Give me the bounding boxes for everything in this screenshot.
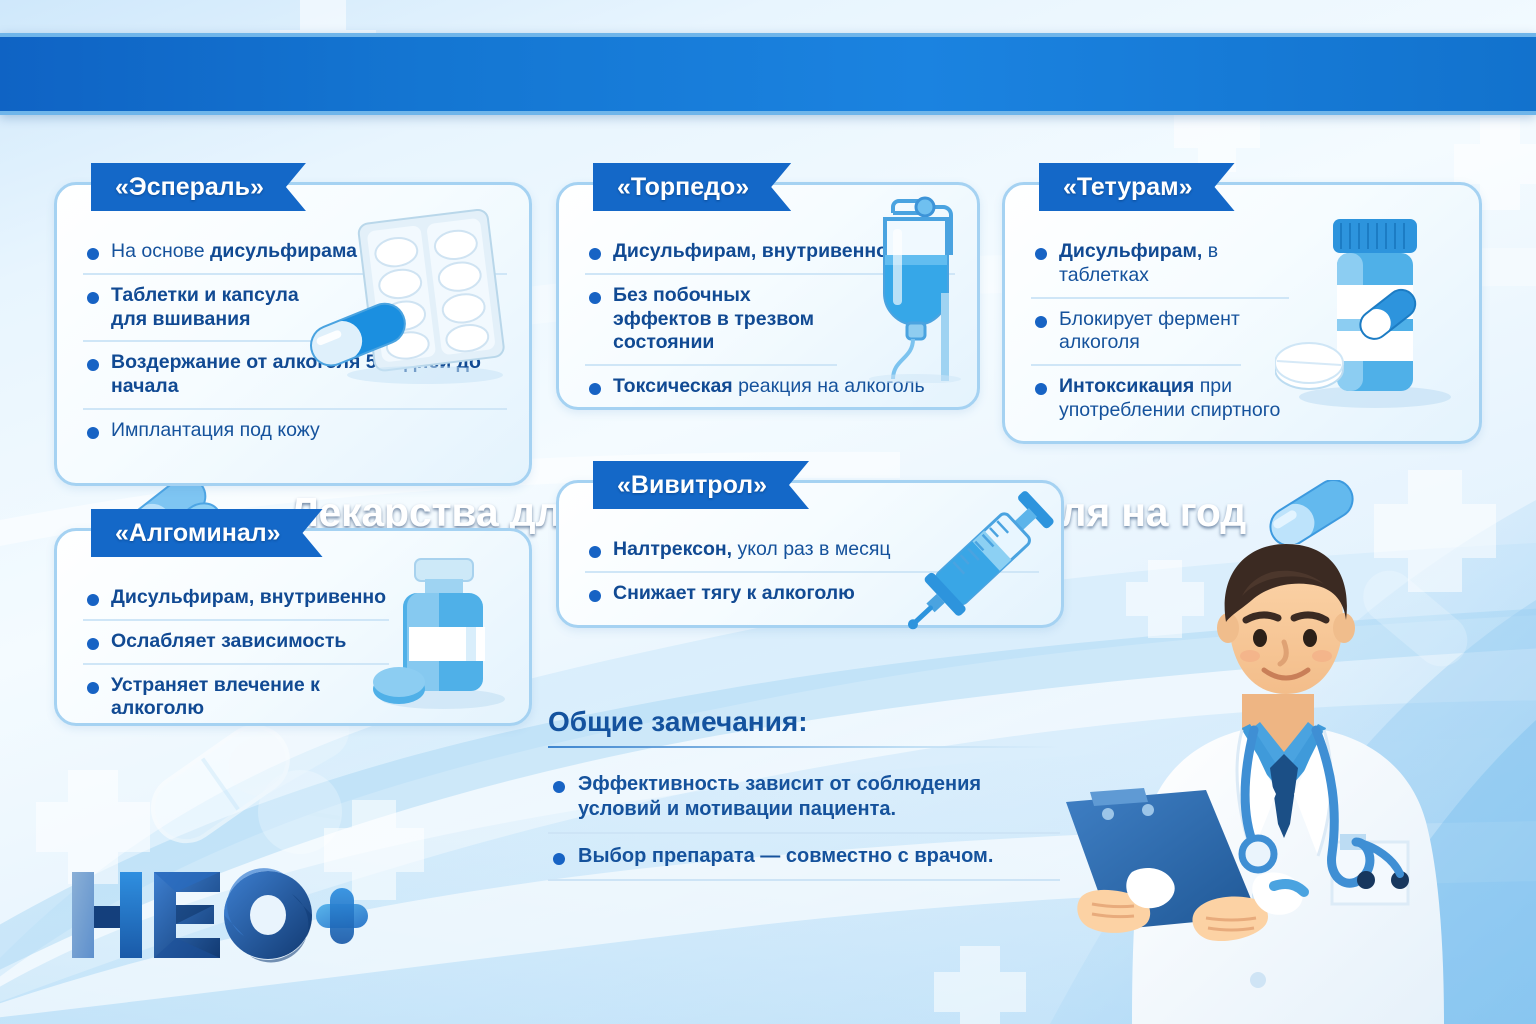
bullet-text-strong: Интоксикация	[1059, 375, 1194, 397]
list-item: Дисульфирам, внутривенно	[83, 577, 389, 621]
torpedo-bullet-list: Дисульфирам, внутривенно Без побочных эф…	[559, 231, 977, 408]
bullet-text: Таблетки и капсула для вшивания	[111, 284, 299, 330]
list-item: Интоксикация при употреблении спиртного	[1031, 366, 1289, 432]
bullet-text-post: укол раз в месяц	[732, 538, 890, 560]
list-item: Ослабляет зависимость	[83, 621, 389, 665]
bullet-text: Без побочных эффектов в трезвом состояни…	[613, 284, 814, 354]
header-band	[0, 33, 1536, 115]
bullet-text: Дисульфирам, внутривенно	[613, 240, 888, 262]
list-item: Воздержание от алкоголя 5~7 дней до нача…	[83, 342, 507, 410]
bullet-text: Блокирует фермент алкоголя	[1059, 308, 1240, 354]
logo-letter-e	[154, 872, 220, 958]
card-esperal[interactable]: «Эспераль»	[54, 182, 532, 486]
list-item: Снижает тягу к алкоголю	[585, 573, 1039, 615]
list-item: На основе дисульфирама	[83, 231, 507, 275]
note-item: Выбор препарата — совместно с врачом.	[548, 834, 1060, 881]
algominal-bullet-list: Дисульфирам, внутривенно Ослабляет завис…	[57, 577, 529, 730]
list-item: Дисульфирам, в таблетках	[1031, 231, 1289, 299]
vivitrol-bullet-list: Налтрексон, укол раз в месяц Снижает тяг…	[559, 529, 1061, 615]
card-title-vivitrol: «Вивитрол»	[593, 461, 809, 509]
bullet-text-pre: На основе	[111, 240, 210, 262]
bullet-text-strong: Дисульфирам,	[1059, 240, 1202, 262]
logo-letter-n	[72, 872, 142, 958]
note-item: Эффективность зависит от соблюдения усло…	[548, 762, 1060, 834]
card-title-esperal: «Эспераль»	[91, 163, 306, 211]
card-algominal[interactable]: «Алгоминал» Дисульфирам, внутривенно Осл…	[54, 528, 532, 726]
bullet-text: Ослабляет зависимость	[111, 630, 346, 652]
list-item: Налтрексон, укол раз в месяц	[585, 529, 1039, 573]
bullet-text: Воздержание от алкоголя 5~7 дней до нача…	[111, 351, 481, 397]
card-title-torpedo: «Торпедо»	[593, 163, 791, 211]
card-title-algominal: «Алгоминал»	[91, 509, 323, 557]
card-title-teturam: «Тетурам»	[1039, 163, 1235, 211]
list-item: Без побочных эффектов в трезвом состояни…	[585, 275, 837, 366]
list-item: Токсическая реакция на алкоголь	[585, 366, 955, 408]
card-teturam[interactable]: «Тетурам»	[1002, 182, 1482, 444]
esperal-bullet-list: На основе дисульфирама Таблетки и капсул…	[57, 231, 529, 452]
notes-title: Общие замечания:	[548, 706, 1060, 746]
list-item: Таблетки и капсула для вшивания	[83, 275, 323, 343]
card-torpedo[interactable]: «Торпедо» Дисульфирам, внутривенно Без п…	[556, 182, 980, 410]
bullet-text: Дисульфирам, внутривенно	[111, 586, 386, 608]
notes-divider	[548, 746, 1060, 748]
general-notes-section: Общие замечания: Эффективность зависит о…	[548, 706, 1060, 881]
bullet-text: Имплантация под кожу	[111, 419, 320, 441]
bullet-text: Устраняет влечение к алкоголю	[111, 674, 320, 720]
logo-letter-o	[224, 868, 312, 962]
list-item: Дисульфирам, внутривенно	[585, 231, 955, 275]
bullet-text: Снижает тягу к алкоголю	[613, 582, 855, 604]
logo-plus-icon	[316, 888, 368, 944]
bullet-text-strong: Токсическая	[613, 375, 733, 397]
doctor-illustration	[1046, 524, 1526, 1024]
list-item: Устраняет влечение к алкоголю	[83, 665, 389, 731]
note-text: Выбор препарата — совместно с врачом.	[578, 844, 1060, 869]
bullet-text-post: реакция на алкоголь	[733, 375, 925, 397]
bullet-text-strong: дисульфирама	[210, 240, 357, 262]
teturam-bullet-list: Дисульфирам, в таблетках Блокирует ферме…	[1005, 231, 1479, 432]
note-text: Эффективность зависит от соблюдения усло…	[578, 772, 1060, 822]
bullet-text-strong: Налтрексон,	[613, 538, 732, 560]
list-item: Блокирует фермент алкоголя	[1031, 299, 1241, 367]
list-item: Имплантация под кожу	[83, 410, 507, 452]
logo-neo-plus[interactable]	[68, 862, 368, 970]
card-vivitrol[interactable]: «Вивитрол»	[556, 480, 1064, 628]
infographic-poster: Лекарства для кодирования от алкоголя на…	[0, 0, 1536, 1024]
